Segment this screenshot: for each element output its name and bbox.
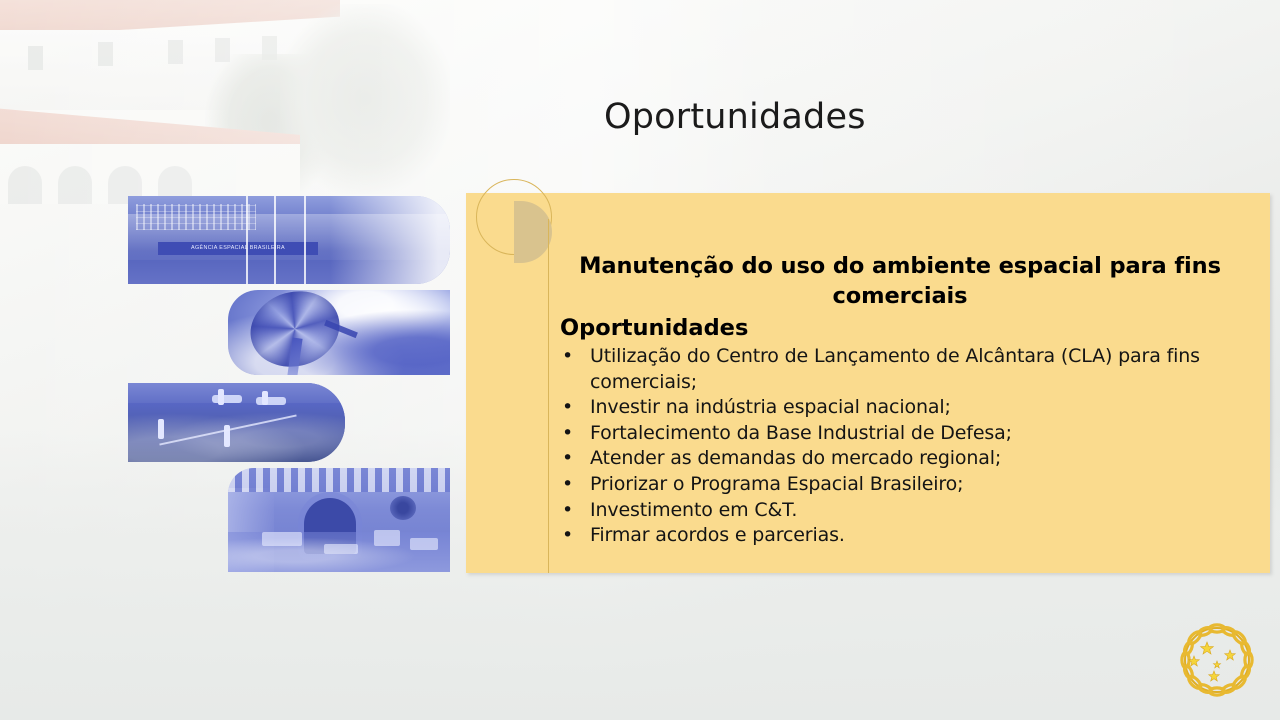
- panel-heading: Manutenção do uso do ambiente espacial p…: [560, 251, 1240, 311]
- opportunities-list: • Utilização do Centro de Lançamento de …: [560, 344, 1240, 549]
- list-item: • Atender as demandas do mercado regiona…: [560, 446, 1240, 472]
- bullet-icon: •: [562, 472, 573, 498]
- list-item-text: Investimento em C&T.: [590, 499, 797, 521]
- list-item-text: Atender as demandas do mercado regional;: [590, 447, 1001, 469]
- panel-vertical-rule: [548, 219, 549, 573]
- launch-site-aerial-photo: [128, 383, 345, 462]
- bullet-icon: •: [562, 395, 573, 421]
- list-item-text: Utilização do Centro de Lançamento de Al…: [590, 345, 1200, 393]
- aeb-building-photo: AGÊNCIA ESPACIAL BRASILEIRA: [128, 196, 450, 284]
- list-item: • Utilização do Centro de Lançamento de …: [560, 344, 1240, 395]
- list-item-text: Priorizar o Programa Espacial Brasileiro…: [590, 473, 963, 495]
- southern-cross-chain-emblem: [1176, 619, 1258, 701]
- list-item-text: Investir na indústria espacial nacional;: [590, 396, 951, 418]
- bullet-icon: •: [562, 498, 573, 524]
- aeb-building-sign: AGÊNCIA ESPACIAL BRASILEIRA: [162, 243, 314, 254]
- panel-body: Manutenção do uso do ambiente espacial p…: [560, 251, 1240, 549]
- bullet-icon: •: [562, 446, 573, 472]
- content-panel: Manutenção do uso do ambiente espacial p…: [466, 193, 1270, 573]
- photo-collage: AGÊNCIA ESPACIAL BRASILEIRA: [0, 0, 460, 600]
- list-item-text: Firmar acordos e parcerias.: [590, 524, 845, 546]
- list-item: • Firmar acordos e parcerias.: [560, 523, 1240, 549]
- bullet-icon: •: [562, 523, 573, 549]
- list-item: • Fortalecimento da Base Industrial de D…: [560, 421, 1240, 447]
- bullet-icon: •: [562, 344, 573, 370]
- page-title: Oportunidades: [604, 97, 866, 137]
- panel-subheading: Oportunidades: [560, 313, 1240, 343]
- southern-cross-stars-icon: [1189, 642, 1236, 681]
- list-item-text: Fortalecimento da Base Industrial de Def…: [590, 422, 1012, 444]
- laboratory-facility-photo: [228, 468, 450, 572]
- bullet-icon: •: [562, 421, 573, 447]
- slide: Oportunidades AGÊNCIA ESPACIAL BRASILEIR…: [0, 0, 1280, 720]
- list-item: • Investir na indústria espacial naciona…: [560, 395, 1240, 421]
- list-item: • Priorizar o Programa Espacial Brasilei…: [560, 472, 1240, 498]
- list-item: • Investimento em C&T.: [560, 498, 1240, 524]
- satellite-dish-photo: [228, 290, 450, 375]
